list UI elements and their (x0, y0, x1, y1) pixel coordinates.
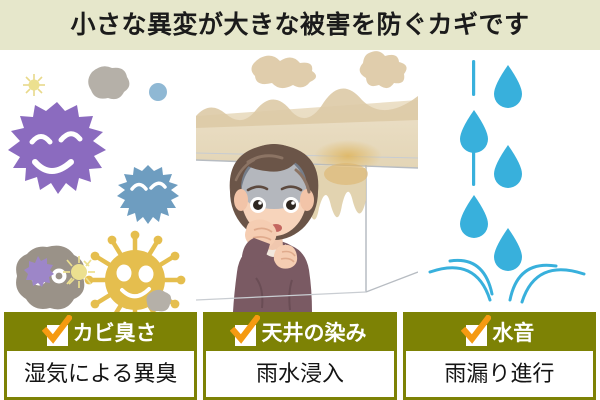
checklist-cards: カビ臭さ 湿気による異臭 天井の染み 雨水浸入 (0, 312, 600, 400)
infographic-root: 小さな異変が大きな被害を防ぐカギです (0, 0, 600, 400)
hand-second (274, 245, 297, 269)
orange-check-icon-2 (230, 315, 260, 345)
mold-germs-svg (0, 50, 196, 312)
header-band: 小さな異変が大きな被害を防ぐカギです (0, 0, 600, 50)
ceiling-stain-svg (196, 50, 418, 312)
checklist-card-3[interactable]: 水音 雨漏り進行 (403, 312, 596, 400)
illustration-strip (0, 50, 600, 312)
check-icon-1 (45, 321, 69, 345)
card-header-1: カビ臭さ (7, 315, 194, 351)
check-icon-3 (464, 321, 488, 345)
water-drops-illustration (418, 50, 600, 312)
card-body-1: 湿気による異臭 (7, 351, 194, 397)
orange-check-icon-3 (461, 315, 491, 345)
check-icon-2 (233, 321, 257, 345)
drop-streak-1 (472, 60, 475, 96)
ceiling-stain-illustration (196, 50, 418, 312)
card-header-3: 水音 (406, 315, 593, 351)
orange-check-icon-1 (42, 315, 72, 345)
page-title: 小さな異変が大きな被害を防ぐカギです (70, 13, 529, 38)
mold-germs-illustration (0, 50, 196, 312)
card-body-label-2: 雨水浸入 (256, 363, 344, 385)
checklist-card-1[interactable]: カビ臭さ 湿気による異臭 (4, 312, 197, 400)
card-header-2: 天井の染み (206, 315, 393, 351)
yellow-speck-small (23, 74, 45, 96)
blue-speck-top (149, 83, 167, 101)
card-body-label-3: 雨漏り進行 (444, 363, 554, 385)
drop-streak-2 (472, 150, 475, 186)
card-head-label-2: 天井の染み (261, 323, 366, 344)
card-body-3: 雨漏り進行 (406, 351, 593, 397)
card-head-label-1: カビ臭さ (73, 323, 157, 344)
yellow-speck-bottom (63, 256, 95, 288)
card-body-label-1: 湿気による異臭 (24, 363, 177, 385)
water-drops-svg (418, 50, 600, 312)
checklist-card-2[interactable]: 天井の染み 雨水浸入 (203, 312, 396, 400)
card-body-2: 雨水浸入 (206, 351, 393, 397)
card-head-label-3: 水音 (492, 323, 534, 344)
